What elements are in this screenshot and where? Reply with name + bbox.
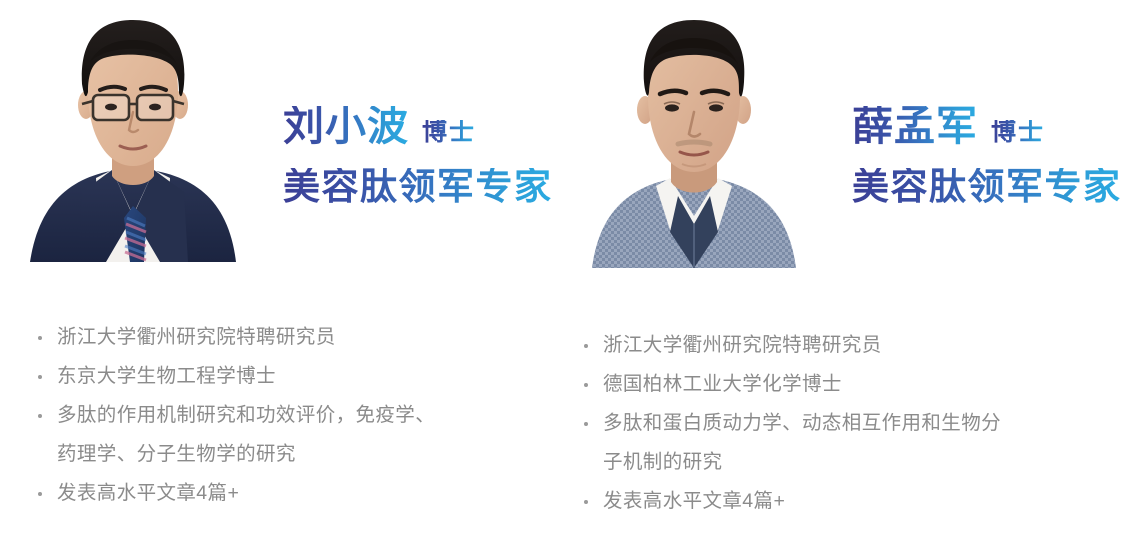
expert-role-line-1: 美容肽领军专家 bbox=[283, 168, 553, 205]
expert-profiles-section: 刘小波 博士 美容肽领军专家 浙江大学衢州研究院特聘研究员 东京大学生物工程学博… bbox=[0, 0, 1141, 541]
expert-name: 薛孟军 bbox=[852, 106, 978, 147]
list-item: 东京大学生物工程学博士 bbox=[36, 357, 541, 396]
credential-text: 浙江大学衢州研究院特聘研究员 bbox=[57, 326, 336, 348]
credential-text: 浙江大学衢州研究院特聘研究员 bbox=[603, 334, 882, 356]
credential-text: 东京大学生物工程学博士 bbox=[57, 365, 276, 387]
expert-photo-2 bbox=[578, 0, 810, 268]
list-item: 浙江大学衢州研究院特聘研究员 bbox=[36, 318, 541, 357]
credential-text: 德国柏林工业大学化学博士 bbox=[603, 373, 842, 395]
credential-text: 多肽和蛋白质动力学、动态相互作用和生物分 bbox=[603, 412, 1001, 434]
portrait-illustration-2 bbox=[578, 0, 810, 268]
expert-title-line-1: 刘小波 博士 bbox=[283, 106, 553, 147]
credential-text-wrap: 子机制的研究 bbox=[603, 443, 1087, 482]
list-item: 发表高水平文章4篇+ bbox=[582, 482, 1087, 521]
list-item: 发表高水平文章4篇+ bbox=[36, 474, 541, 513]
expert-photo-1 bbox=[20, 0, 245, 262]
list-item: 浙江大学衢州研究院特聘研究员 bbox=[582, 326, 1087, 365]
expert-header-1: 刘小波 博士 美容肽领军专家 bbox=[0, 0, 560, 290]
list-item: 德国柏林工业大学化学博士 bbox=[582, 365, 1087, 404]
credential-text-wrap: 药理学、分子生物学的研究 bbox=[57, 435, 541, 474]
expert-role-line-2: 美容肽领军专家 bbox=[852, 168, 1122, 205]
credential-text: 发表高水平文章4篇+ bbox=[57, 482, 239, 504]
expert-credentials-1: 浙江大学衢州研究院特聘研究员 东京大学生物工程学博士 多肽的作用机制研究和功效评… bbox=[36, 318, 541, 513]
list-item: 多肽和蛋白质动力学、动态相互作用和生物分 子机制的研究 bbox=[582, 404, 1087, 482]
expert-card-1: 刘小波 博士 美容肽领军专家 浙江大学衢州研究院特聘研究员 东京大学生物工程学博… bbox=[0, 0, 560, 541]
expert-title-line-2: 薛孟军 博士 bbox=[852, 106, 1122, 147]
credential-text: 多肽的作用机制研究和功效评价，免疫学、 bbox=[57, 404, 435, 426]
expert-role: 美容肽领军专家 bbox=[852, 168, 1122, 205]
expert-degree: 博士 bbox=[991, 120, 1045, 145]
expert-credentials-2: 浙江大学衢州研究院特聘研究员 德国柏林工业大学化学博士 多肽和蛋白质动力学、动态… bbox=[582, 326, 1087, 521]
portrait-illustration-1 bbox=[20, 0, 245, 262]
credential-text: 发表高水平文章4篇+ bbox=[603, 490, 785, 512]
expert-degree: 博士 bbox=[422, 120, 476, 145]
expert-name: 刘小波 bbox=[283, 106, 409, 147]
expert-role: 美容肽领军专家 bbox=[283, 168, 553, 205]
expert-name-block-2: 薛孟军 博士 美容肽领军专家 bbox=[852, 106, 1122, 205]
list-item: 多肽的作用机制研究和功效评价，免疫学、 药理学、分子生物学的研究 bbox=[36, 396, 541, 474]
expert-name-block-1: 刘小波 博士 美容肽领军专家 bbox=[283, 106, 553, 205]
